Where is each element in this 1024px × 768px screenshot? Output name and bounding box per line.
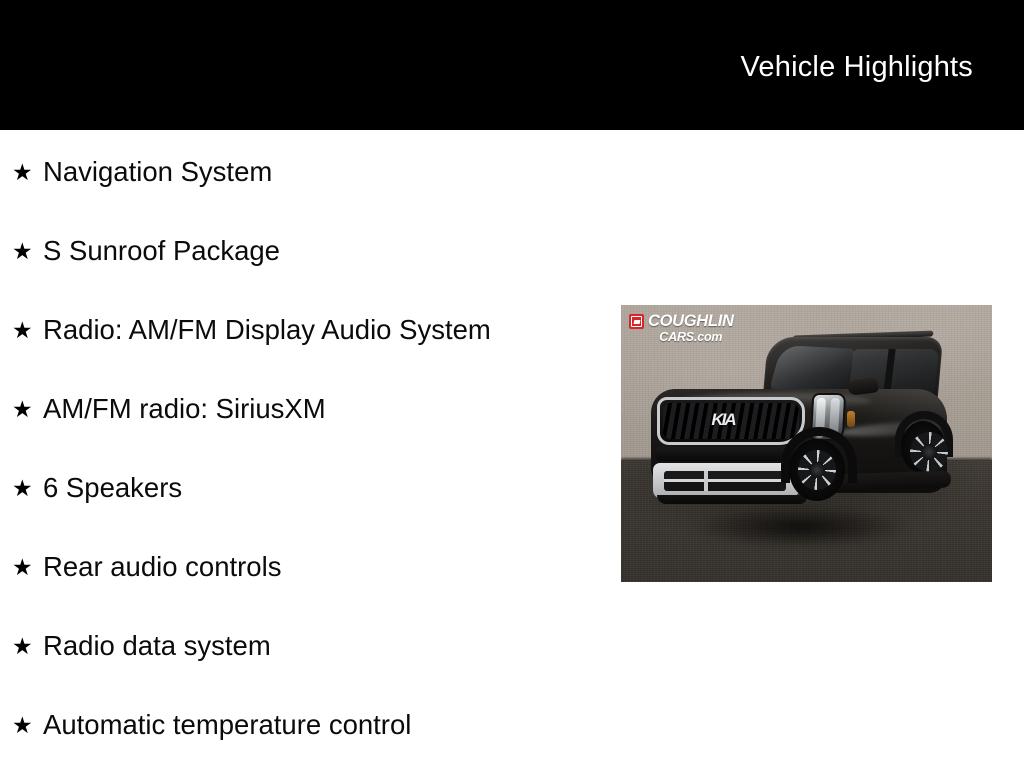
vehicle-bumper-vent [664,471,786,491]
watermark-text: COUGHLIN CARS.com [648,313,734,343]
dealer-watermark: COUGHLIN CARS.com [629,313,734,343]
star-bullet-icon: ★ [12,240,43,263]
star-bullet-icon: ★ [12,714,43,737]
vehicle-rear-wheel [901,421,945,473]
star-bullet-icon: ★ [12,556,43,579]
vehicle-front-wheel [789,439,845,501]
watermark-line-2: CARS.com [648,331,734,344]
vehicle-highlights-slide: Vehicle Highlights ★ Navigation System ★… [0,0,1024,768]
highlight-label: Automatic temperature control [43,708,411,742]
list-item: ★ Radio data system [0,627,271,665]
highlight-label: Radio data system [43,629,271,663]
highlight-label: 6 Speakers [43,471,182,505]
list-item: ★ Navigation System [0,153,272,191]
star-bullet-icon: ★ [12,161,43,184]
vehicle-lower-lip [657,495,807,504]
watermark-line-1: COUGHLIN [648,313,734,330]
star-bullet-icon: ★ [12,477,43,500]
list-item: ★ Automatic temperature control [0,706,411,744]
vehicle-side-marker-light [847,411,855,427]
kia-badge-icon: KIA [695,411,751,428]
list-item: ★ AM/FM radio: SiriusXM [0,390,326,428]
highlight-label: AM/FM radio: SiriusXM [43,392,326,426]
list-item: ★ S Sunroof Package [0,232,280,270]
vehicle-highlights-list: ★ Navigation System ★ S Sunroof Package … [0,130,600,768]
vehicle-shadow [649,498,954,556]
star-bullet-icon: ★ [12,319,43,342]
list-item: ★ Radio: AM/FM Display Audio System [0,311,491,349]
highlight-label: Rear audio controls [43,550,281,584]
star-bullet-icon: ★ [12,398,43,421]
vehicle-photo: COUGHLIN CARS.com KIA [621,305,992,582]
header-bar: Vehicle Highlights [0,0,1024,130]
highlight-label: S Sunroof Package [43,234,280,268]
vehicle-illustration: KIA [643,335,973,560]
page-title: Vehicle Highlights [740,50,973,84]
highlight-label: Navigation System [43,155,272,189]
highlight-label: Radio: AM/FM Display Audio System [43,313,491,347]
list-item: ★ 6 Speakers [0,469,182,507]
list-item: ★ Rear audio controls [0,548,281,586]
star-bullet-icon: ★ [12,635,43,658]
coughlin-logo-icon [629,314,644,329]
